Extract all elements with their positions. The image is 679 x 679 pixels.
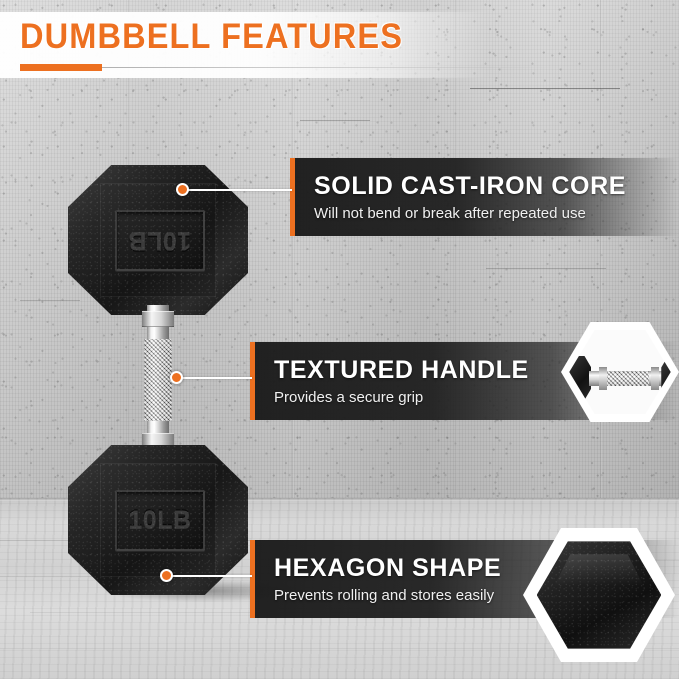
marker-solid-cast-iron-core[interactable] bbox=[176, 183, 189, 196]
hexagon-photo-area bbox=[569, 330, 670, 414]
infographic-canvas: DUMBBELL FEATURES 10LB 10LB bbox=[0, 0, 679, 679]
mini-handle-knurling bbox=[607, 371, 649, 386]
weight-label-bottom: 10LB bbox=[128, 506, 191, 535]
wall-crack bbox=[486, 268, 606, 269]
leader-line-core bbox=[188, 189, 292, 191]
wall-crack bbox=[300, 120, 370, 121]
dumbbell-head-bottom: 10LB bbox=[68, 445, 248, 595]
page-title: DUMBBELL FEATURES bbox=[20, 17, 403, 57]
title-underline-accent bbox=[20, 64, 102, 71]
marker-hexagon-shape[interactable] bbox=[160, 569, 173, 582]
wall-crack bbox=[470, 88, 620, 89]
inset-hexagon-endcap-closeup bbox=[523, 528, 675, 662]
marker-textured-handle[interactable] bbox=[170, 371, 183, 384]
title-underline bbox=[20, 64, 660, 71]
handle-knurling bbox=[144, 339, 172, 421]
hexagon-frame bbox=[523, 528, 675, 662]
dumbbell-head-top: 10LB bbox=[68, 165, 248, 315]
weight-plate-bottom: 10LB bbox=[115, 490, 204, 551]
feature-callout-solid-cast-iron-core[interactable]: SOLID CAST-IRON CORE Will not bend or br… bbox=[290, 158, 679, 236]
inset-handle-closeup bbox=[561, 322, 679, 422]
mini-dumbbell-head-right bbox=[661, 356, 670, 400]
callout-text-group: SOLID CAST-IRON CORE Will not bend or br… bbox=[314, 158, 679, 236]
hexagon-endcap bbox=[537, 541, 662, 648]
leader-line-hexagon bbox=[172, 575, 252, 577]
product-image-dumbbell: 10LB 10LB bbox=[60, 165, 270, 595]
hexagon-frame bbox=[561, 322, 679, 422]
feature-title: SOLID CAST-IRON CORE bbox=[314, 172, 679, 201]
weight-label-top: 10LB bbox=[128, 226, 191, 255]
feature-subtitle: Will not bend or break after repeated us… bbox=[314, 205, 679, 222]
mini-handle-collar bbox=[651, 367, 659, 390]
dumbbell-head-face: 10LB bbox=[100, 183, 215, 297]
title-underline-extension bbox=[102, 67, 562, 68]
weight-plate-top: 10LB bbox=[115, 210, 204, 271]
mini-handle-collar bbox=[599, 367, 607, 390]
hexagon-endcap-highlight bbox=[554, 554, 644, 586]
mini-dumbbell-head-left bbox=[569, 356, 591, 400]
handle-collar bbox=[142, 311, 174, 327]
leader-line-handle bbox=[182, 377, 252, 379]
dumbbell-head-face: 10LB bbox=[100, 463, 215, 577]
